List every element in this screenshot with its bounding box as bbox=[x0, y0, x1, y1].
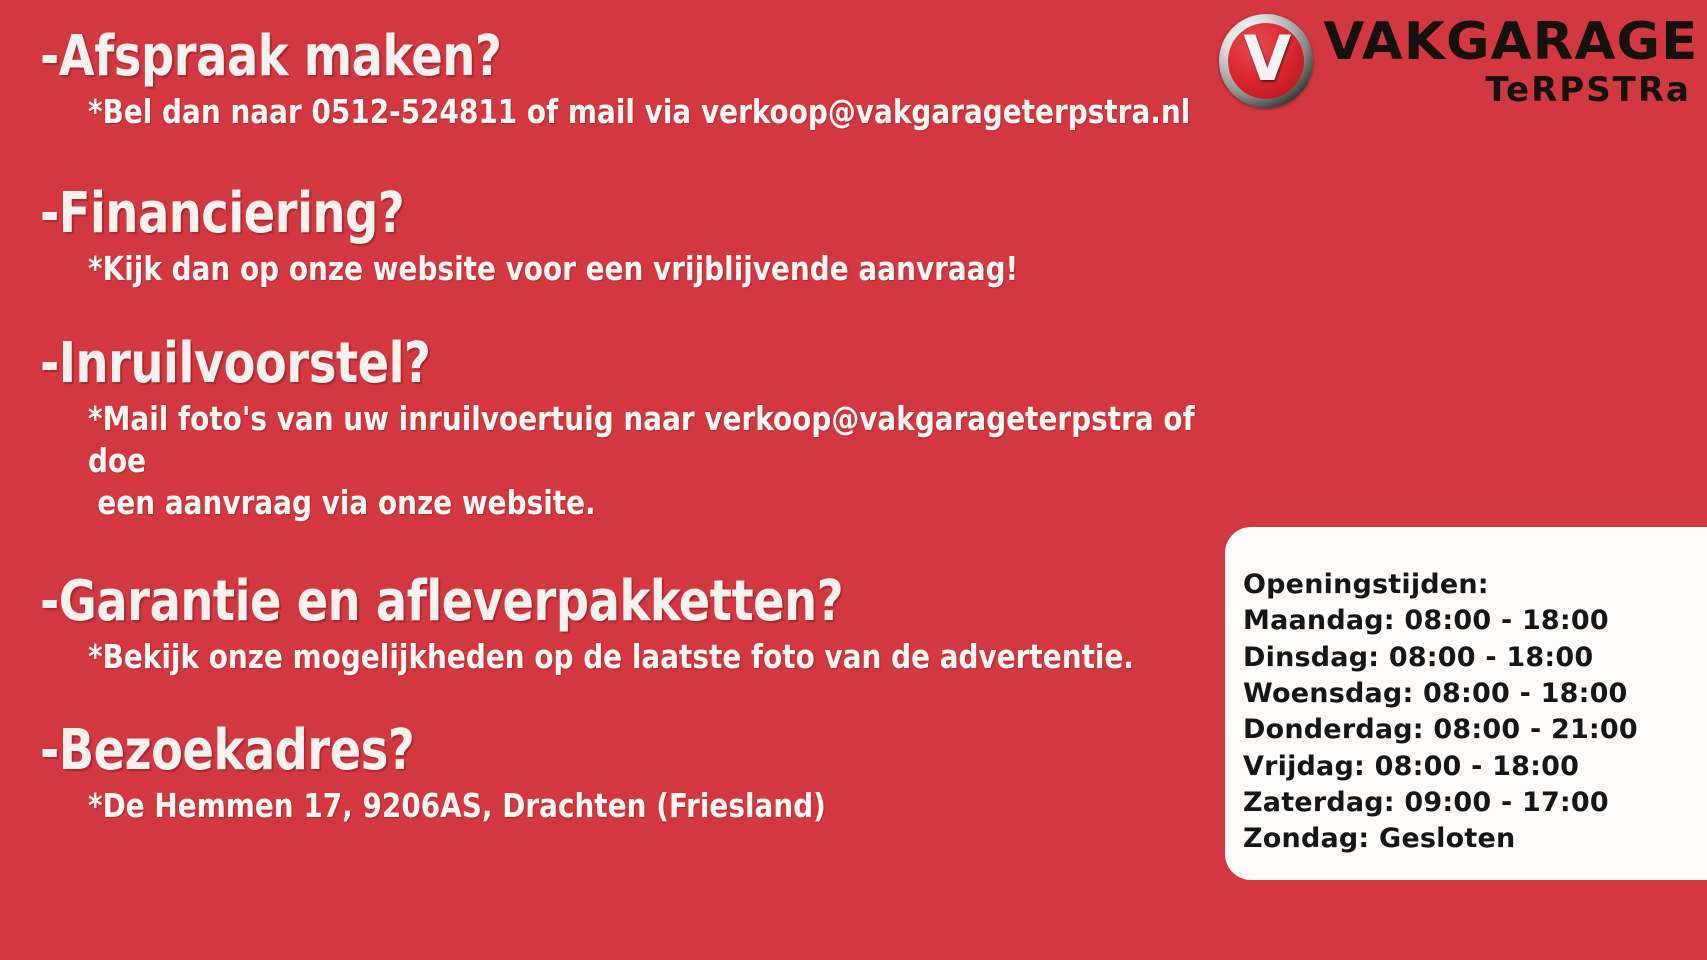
faq-subtext: *De Hemmen 17, 9206AS, Drachten (Friesla… bbox=[88, 785, 1246, 827]
opening-hours-friday: Vrijdag: 08:00 - 18:00 bbox=[1243, 749, 1707, 785]
faq-list: -Afspraak maken? *Bel dan naar 0512-5248… bbox=[40, 28, 1320, 827]
faq-heading: -Garantie en afleverpakketten? bbox=[40, 573, 1218, 630]
faq-subtext: *Kijk dan op onze website voor een vrijb… bbox=[88, 248, 1246, 290]
faq-heading: -Afspraak maken? bbox=[40, 28, 1218, 85]
faq-subtext-line1: *De Hemmen 17, 9206AS, Drachten (Friesla… bbox=[88, 786, 826, 825]
faq-subtext: *Mail foto's van uw inruilvoertuig naar … bbox=[88, 398, 1246, 525]
opening-hours-tuesday: Dinsdag: 08:00 - 18:00 bbox=[1243, 640, 1707, 676]
brand-name-secondary: TeRPSTRa bbox=[1485, 73, 1691, 107]
faq-item-afspraak: -Afspraak maken? *Bel dan naar 0512-5248… bbox=[40, 28, 1320, 133]
opening-hours-saturday: Zaterdag: 09:00 - 17:00 bbox=[1243, 785, 1707, 821]
faq-subtext: *Bekijk onze mogelijkheden op de laatste… bbox=[88, 636, 1246, 678]
faq-subtext-line1: *Bekijk onze mogelijkheden op de laatste… bbox=[88, 637, 1134, 676]
poster-canvas: V VAKGARAGE TeRPSTRa -Afspraak maken? *B… bbox=[0, 0, 1707, 960]
opening-hours-wednesday: Woensdag: 08:00 - 18:00 bbox=[1243, 676, 1707, 712]
faq-item-garantie: -Garantie en afleverpakketten? *Bekijk o… bbox=[40, 573, 1320, 678]
opening-hours-card: Openingstijden: Maandag: 08:00 - 18:00 D… bbox=[1225, 527, 1707, 880]
opening-hours-sunday: Zondag: Gesloten bbox=[1243, 821, 1707, 857]
faq-item-inruilvoorstel: -Inruilvoorstel? *Mail foto's van uw inr… bbox=[40, 335, 1320, 525]
faq-heading: -Financiering? bbox=[40, 185, 1218, 242]
brand-wordmark: VAKGARAGE TeRPSTRa bbox=[1327, 16, 1695, 107]
opening-hours-thursday: Donderdag: 08:00 - 21:00 bbox=[1243, 712, 1707, 748]
faq-item-bezoekadres: -Bezoekadres? *De Hemmen 17, 9206AS, Dra… bbox=[40, 722, 1320, 827]
faq-subtext-line1: *Mail foto's van uw inruilvoertuig naar … bbox=[88, 399, 1195, 480]
faq-subtext-line2: een aanvraag via onze website. bbox=[97, 482, 1246, 524]
brand-name-primary: VAKGARAGE bbox=[1324, 16, 1699, 68]
faq-subtext-line1: *Kijk dan op onze website voor een vrijb… bbox=[88, 249, 1018, 288]
opening-hours-title: Openingstijden: bbox=[1243, 567, 1707, 603]
faq-item-financiering: -Financiering? *Kijk dan op onze website… bbox=[40, 185, 1320, 290]
faq-subtext: *Bel dan naar 0512-524811 of mail via ve… bbox=[88, 91, 1246, 133]
faq-heading: -Bezoekadres? bbox=[40, 722, 1218, 779]
opening-hours-monday: Maandag: 08:00 - 18:00 bbox=[1243, 603, 1707, 639]
faq-heading: -Inruilvoorstel? bbox=[40, 335, 1218, 392]
faq-subtext-line1: *Bel dan naar 0512-524811 of mail via ve… bbox=[88, 92, 1190, 131]
